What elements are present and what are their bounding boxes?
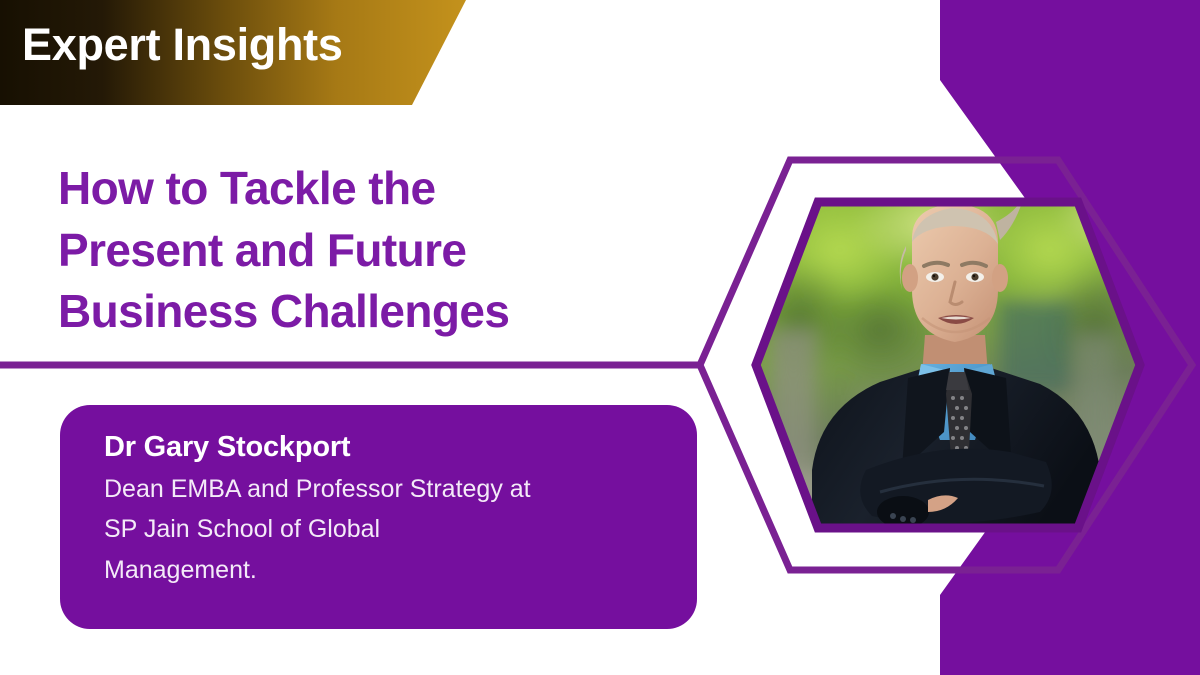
headline-line-1: How to Tackle the [58,158,678,220]
page-title: How to Tackle the Present and Future Bus… [58,158,678,343]
headline-line-3: Business Challenges [58,281,678,343]
speaker-role-line-2: SP Jain School of Global [104,509,663,550]
sleeve-buttons [890,513,916,523]
headline-line-2: Present and Future [58,220,678,282]
necktie [946,372,972,470]
face [912,204,998,342]
hair [912,208,998,244]
speaker-name: Dr Gary Stockport [104,429,663,467]
expert-insights-banner: Expert Insights [0,0,470,105]
suit-jacket [812,366,1100,540]
speaker-role: Dean EMBA and Professor Strategy at SP J… [104,469,663,591]
tie-pattern [951,396,968,460]
portrait-hexagon-frame [756,202,1140,528]
speaker-role-line-1: Dean EMBA and Professor Strategy at [104,469,663,510]
speaker-role-line-3: Management. [104,550,663,591]
eyes [926,272,984,282]
right-panel-shape [940,0,1200,675]
banner-label: Expert Insights [22,22,343,67]
outer-hexagon-outline [700,160,1192,570]
portrait-subject [812,196,1100,540]
crossed-arms [860,449,1052,524]
portrait-photo [745,170,1165,540]
photo-background-foliage [745,170,1165,540]
right-purple-panel [940,0,1200,675]
expert-insights-card: Expert Insights How to Tackle the Presen… [0,0,1200,675]
speaker-info-card: Dr Gary Stockport Dean EMBA and Professo… [60,405,697,629]
dress-shirt [922,364,990,440]
